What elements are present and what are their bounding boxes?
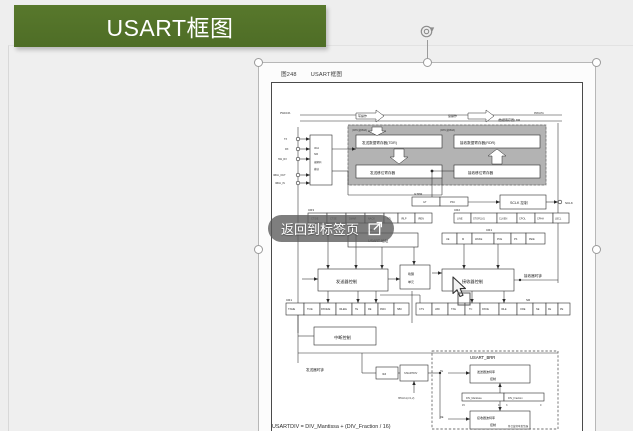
pin-rx: RX [285,147,310,151]
label-cpu-dma-left: (CPU或DMA) [352,128,367,132]
svg-text:RE: RE [368,308,372,311]
figure-number: 图248 [281,72,297,78]
svg-text:M: M [462,238,464,241]
svg-text:TX: TX [284,138,288,141]
svg-text:NE: NE [536,308,540,311]
resize-handle-middle-left[interactable] [254,245,263,254]
block-tx-baud-line2: 控制 [490,376,496,381]
svg-text:PCE: PCE [497,238,502,241]
svg-text:CLKEN: CLKEN [499,218,508,221]
rotate-icon[interactable] [419,23,436,40]
label-cpu-dma-right: (CPU或DMA) [440,128,455,132]
brr-field-mantissa: DIV_Mantissa [466,397,482,400]
register-cr1-name: CR1 [486,228,492,232]
figure-title: USART框图 [311,72,342,78]
svg-text:WAKE: WAKE [475,238,483,241]
register-cr1-fields: UE M WAKE PCE PS PEIE [442,233,545,244]
svg-text:CPHA: CPHA [537,218,544,221]
label-prdata: PRDATA [534,112,544,115]
pin-irda-out: IRDA_OUT [273,173,310,177]
block-rdr: 接收数据寄存器(RDR) [460,140,495,145]
label-usartdiv: fUSARTDIV [404,372,418,375]
block-sclk-control: SCLK 控制 [510,200,528,205]
svg-text:UE: UE [446,238,450,241]
block-wake-line2: 单元 [408,279,414,284]
svg-text:RXNE: RXNE [482,308,489,311]
svg-text:SBK: SBK [397,308,402,311]
brr-bit-3: 3 [506,404,508,407]
label-write-op: 写操作 [358,113,367,118]
label-pclk: fPCLKx(x=1,2) [398,397,414,400]
block-tx-shift-register: 发送移位寄存器 [370,170,396,175]
svg-text:CPOL: CPOL [519,218,526,221]
back-to-tab-label: 返回到标签页 [281,219,359,238]
mouse-cursor [452,276,474,311]
resize-handle-top-left[interactable] [254,58,263,67]
svg-text:STOP[1:0]: STOP[1:0] [473,218,485,221]
label-rx-clock: 接收器时钟 [524,273,542,278]
back-to-tab-button[interactable]: 返回到标签页 [268,215,394,242]
diagram-svg: PWDATA PRDATA 写操作 读操作 (数据寄存器) DR (CPU或DM… [272,83,584,431]
svg-text:PEIE: PEIE [529,238,535,241]
brr-bit-4: 4 [498,404,500,407]
block-tx-baud-line1: 发送器波特率 [477,369,495,374]
brr-bit-15: 15 [462,404,465,407]
register-gtpr-name: GTPR [414,192,423,196]
svg-text:RWU: RWU [380,308,386,311]
svg-text:LBCL: LBCL [555,218,562,221]
svg-text:IRDA_OUT: IRDA_OUT [273,174,286,177]
svg-text:LBD: LBD [435,308,440,311]
svg-text:TCIE: TCIE [307,308,313,311]
block-irda-line4: 模块 [314,167,320,171]
svg-text:RXNEIE: RXNEIE [321,308,331,311]
block-tx-control: 发送器控制 [336,278,357,285]
picture-frame[interactable]: 图248USART框图 PWDATA PRDATA 写操作 读操作 [258,62,596,431]
register-cr2-name: CR2 [454,208,460,212]
svg-text:LINE: LINE [457,218,463,221]
register-sr-fields: CTS LBD TXE TC RXNE IDLE ORE NE FE PE [416,303,570,315]
pin-sclk: SCLK [565,201,573,205]
svg-text:CTS: CTS [419,308,424,311]
block-tdr: 发送数据寄存器(TDR) [362,140,397,145]
label-brr-note: 符合波特率发生器 [508,424,529,428]
signal-re: RE [440,416,444,419]
page-title: USART框图 [106,9,233,43]
block-irda-line2: SIR [314,153,318,156]
svg-text:FE: FE [548,308,552,311]
figure-caption: 图248USART框图 [281,70,342,78]
block-rx-shift-register: 接收移位寄存器 [468,170,494,175]
svg-text:RX: RX [285,148,289,151]
brr-bit-0: 0 [540,404,542,407]
label-read-op: 读操作 [448,113,457,118]
usart-block-diagram-image: 图248USART框图 PWDATA PRDATA 写操作 读操作 [259,63,595,431]
register-sr-name: SR [526,298,531,302]
brr-field-fraction: DIV_Fraction [508,397,523,400]
resize-handle-top-right[interactable] [592,58,601,67]
svg-text:IRDA_IN: IRDA_IN [275,182,285,185]
svg-text:IDLE: IDLE [501,308,507,311]
svg-text:TXEIE: TXEIE [288,308,296,311]
powerpoint-slide-view: USART框图 图248USART框图 [0,0,633,431]
register-cr1b-name: CR1 [286,298,292,302]
block-wake-line1: 唤醒 [408,271,414,276]
block-irda-line1: IrDA [314,147,319,150]
resize-handle-middle-right[interactable] [592,245,601,254]
svg-text:TE: TE [355,308,359,311]
slide-title-banner[interactable]: USART框图 [14,5,326,47]
usartdiv-formula: USARTDIV = DIV_Mantissa + (DIV_Fraction … [272,424,391,430]
diagram-outer-border: PWDATA PRDATA 写操作 读操作 (数据寄存器) DR (CPU或DM… [271,82,583,431]
label-data-register: (数据寄存器) DR [498,117,521,122]
svg-text:IREN: IREN [418,218,424,221]
svg-text:IDLEIE: IDLEIE [339,308,347,311]
label-pwdata: PWDATA [280,112,291,115]
register-cr1b-fields: TXEIE TCIE RXNEIE IDLEIE TE RE RWU SBK [286,303,409,315]
resize-handle-top-center[interactable] [423,58,432,67]
svg-text:PE: PE [560,308,564,311]
pin-tx: TX [284,137,310,141]
label-tx-clock: 发送器时钟 [306,367,324,372]
svg-text:ORE: ORE [520,308,526,311]
external-link-icon [368,221,383,236]
block-rx-baud-line2: 控制 [490,422,496,427]
svg-text:PS: PS [514,238,518,241]
gtpr-field-gt: GT [423,201,427,204]
selected-picture[interactable]: 图248USART框图 PWDATA PRDATA 写操作 读操作 [258,62,596,431]
register-cr3-name: CR3 [308,208,314,212]
pin-sw-rx: SW_RX [278,157,310,161]
block-div16: /16 [382,372,387,376]
gtpr-field-psc: PSC [450,201,455,204]
register-cr2-fields: LINE STOP[1:0] CLKEN CPOL CPHA LBCL [454,213,569,223]
svg-text:SW_RX: SW_RX [278,158,287,161]
block-irq-control: 中断控制 [334,334,351,341]
label-usart-brr: USART_BRR [470,355,495,360]
pin-irda-in: IRDA_IN [275,181,310,185]
svg-text:IRLP: IRLP [401,218,407,221]
block-rx-baud-line1: 接收器波特率 [477,415,495,420]
block-irda-line3: 编解码 [314,160,322,164]
